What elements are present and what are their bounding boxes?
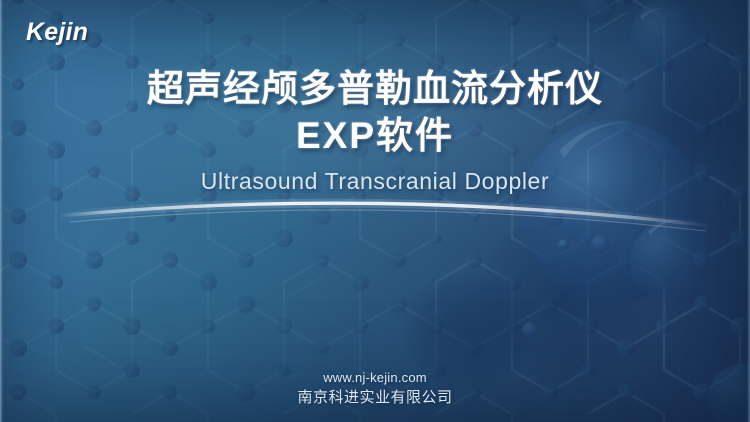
footer-url: www.nj-kejin.com <box>0 368 750 387</box>
left-edge-line <box>0 0 3 422</box>
title-slide: Kejin 超声经颅多普勒血流分析仪 EXP软件 Ultrasound Tran… <box>0 0 750 422</box>
molecular-pattern-icon <box>0 0 750 422</box>
brand-logo: Kejin <box>26 18 88 47</box>
page-title-line-1: 超声经颅多普勒血流分析仪 <box>0 66 750 112</box>
page-subtitle: Ultrasound Transcranial Doppler <box>0 168 750 195</box>
footer-company-name: 南京科进实业有限公司 <box>0 387 750 408</box>
title-block: 超声经颅多普勒血流分析仪 EXP软件 <box>0 66 750 160</box>
footer: www.nj-kejin.com 南京科进实业有限公司 <box>0 368 750 408</box>
page-title-line-2: EXP软件 <box>0 112 750 160</box>
